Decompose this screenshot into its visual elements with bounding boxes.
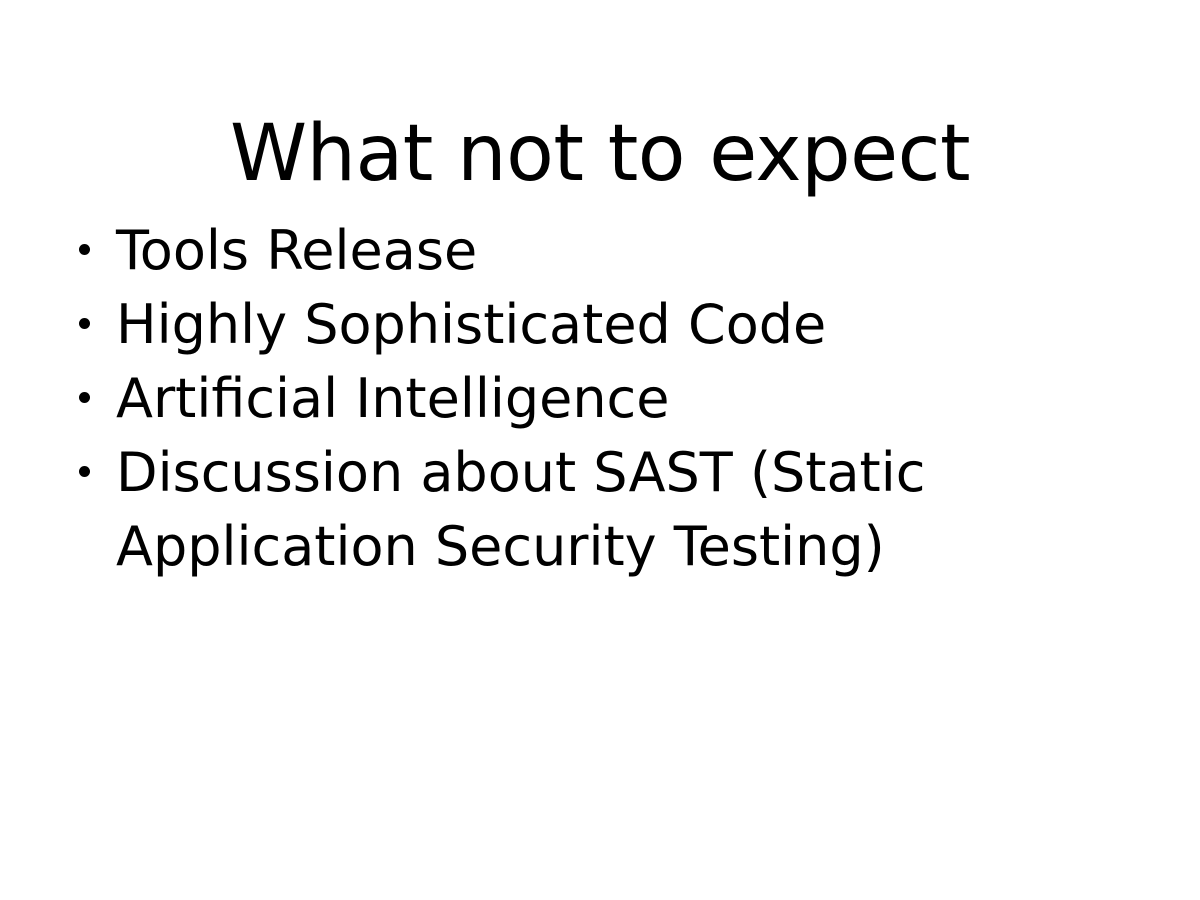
- list-item[interactable]: Artificial Intelligence: [60, 362, 940, 436]
- list-item[interactable]: Tools Release: [60, 214, 940, 288]
- bullet-dot-icon: [74, 214, 94, 288]
- bullet-list: Tools Release Highly Sophisticated Code …: [60, 214, 940, 584]
- bullet-dot-icon: [74, 288, 94, 362]
- list-item-label: Tools Release: [116, 214, 940, 288]
- bullet-dot-icon: [74, 436, 94, 510]
- list-item[interactable]: Discussion about SAST (Static Applicatio…: [60, 436, 940, 584]
- list-item-label: Discussion about SAST (Static Applicatio…: [116, 436, 940, 584]
- bullet-dot-icon: [74, 362, 94, 436]
- presentation-slide: What not to expect Tools Release Highly …: [0, 0, 1200, 900]
- list-item-label: Highly Sophisticated Code: [116, 288, 940, 362]
- page-title: What not to expect: [60, 114, 1140, 196]
- list-item[interactable]: Highly Sophisticated Code: [60, 288, 940, 362]
- list-item-label: Artificial Intelligence: [116, 362, 940, 436]
